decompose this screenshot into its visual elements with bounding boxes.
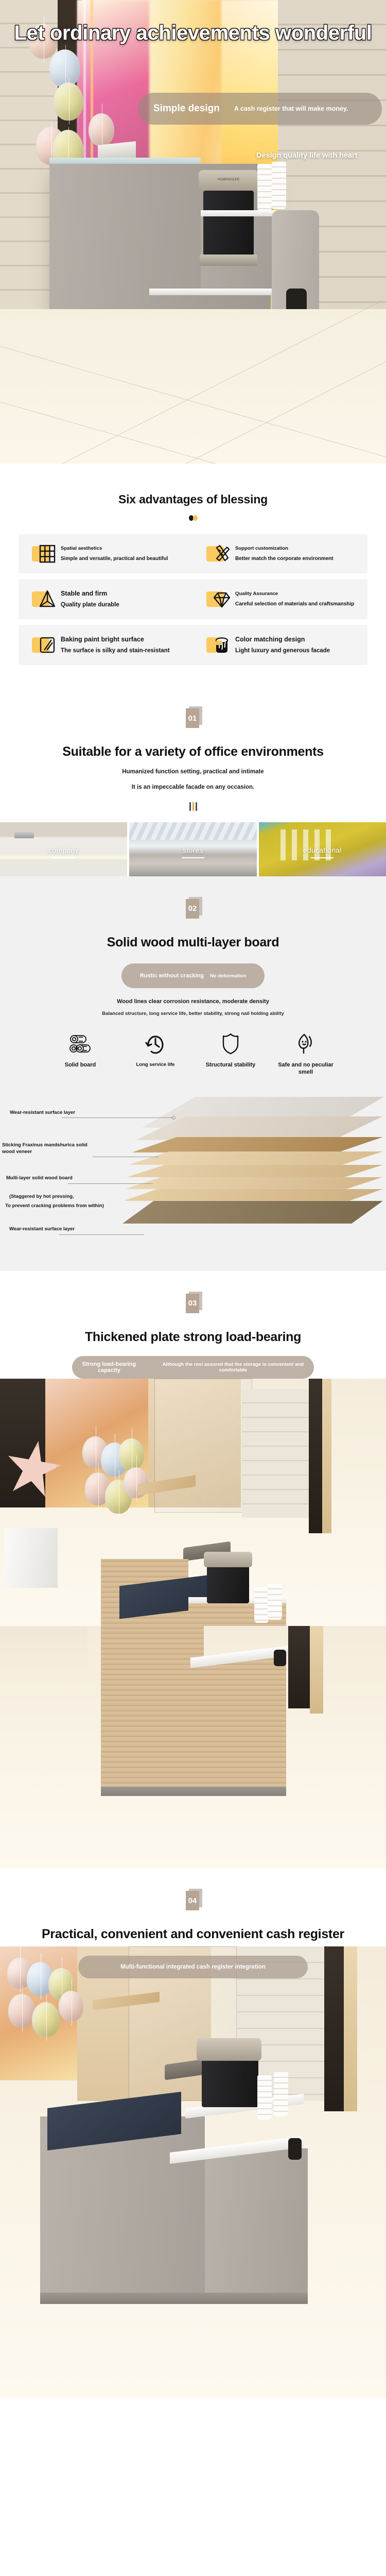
diamond-icon: [206, 590, 230, 608]
counter-handle-cutout: [288, 2138, 302, 2160]
advantages-title: Six advantages of blessing: [0, 493, 386, 506]
door-frame-dark: [324, 1946, 344, 2111]
advantage-body: Quality plate durable: [61, 601, 119, 609]
section-02-desc-2: Balanced structure, long service life, b…: [0, 1011, 386, 1016]
paint-bucket-icon: [206, 636, 230, 654]
coffee-machine-brand: HOMEMAKER: [204, 178, 253, 181]
clock-arrow-icon: [125, 1031, 186, 1057]
advantage-card-baking-paint[interactable]: Baking paint bright surface The surface …: [19, 635, 193, 655]
hero-pill-sub-label: A cash register that will make money.: [234, 105, 348, 113]
leader-line-3: [68, 1183, 153, 1184]
advantage-text: Stable and firm Quality plate durable: [61, 589, 119, 609]
advantage-text: Baking paint bright surface The surface …: [61, 635, 170, 655]
background-wall: [0, 1626, 87, 1675]
pill-label-secondary: No deformation: [210, 973, 246, 979]
coffee-machine-top: [197, 2038, 261, 2061]
section-01-sub2: It is an impeccable facade on any occasi…: [0, 784, 386, 790]
tile-wall: [242, 1389, 319, 1518]
advantage-body: Simple and versatile, practical and beau…: [61, 555, 168, 562]
coffee-machine-base: [200, 255, 257, 266]
board-layer-diagram: Wear-resistant surface layer Sticking Fr…: [0, 1088, 386, 1258]
advantage-heading: Baking paint bright surface: [61, 635, 170, 643]
door-frame-wood: [322, 1379, 331, 1533]
counter-handle-cutout: [274, 1650, 286, 1666]
product-photo-cafe-wide: [0, 1379, 386, 1626]
scene-underline: [182, 857, 204, 858]
feature-safe-no-smell: Safe and no peculiar smell: [275, 1031, 337, 1076]
lower-marble-shelf: [149, 289, 284, 295]
section-03-heading: Thickened plate strong load-bearing: [0, 1329, 386, 1345]
bar-2-icon: [192, 802, 194, 811]
section-02: 02 Solid wood multi-layer board Rustic w…: [0, 876, 386, 1271]
section-02-feature-list: Solid board Long service life: [0, 1016, 386, 1076]
wood-counter-body: [101, 1626, 204, 1791]
balloon-yellow-1: [54, 82, 83, 121]
cup-stack-2: [272, 162, 286, 209]
feature-structural-stability: Structural stability: [200, 1031, 261, 1076]
counter-plinth: [101, 1787, 286, 1796]
shield-icon: [200, 1031, 261, 1057]
advantage-text: Color matching design Light luxury and g…: [235, 635, 330, 655]
section-number-badge: 01: [186, 708, 200, 728]
cup-stack-1: [257, 2075, 272, 2120]
feature-solid-board: Solid board: [49, 1031, 111, 1076]
advantages-grid: Spatial aesthetics Simple and versatile,…: [0, 534, 386, 665]
advantages-divider-dots: [0, 515, 386, 521]
scene-underline: [311, 857, 334, 858]
feature-label: Safe and no peculiar smell: [275, 1062, 337, 1076]
balloon-f: [59, 1991, 83, 2022]
advantage-row: Spatial aesthetics Simple and versatile,…: [19, 534, 367, 573]
tile-seam-1: [0, 340, 386, 464]
paint-panel-icon: [32, 636, 56, 654]
balloon-peach-2: [89, 113, 114, 146]
section-number: 02: [186, 899, 199, 919]
hero-tagline: Design quality life with heart: [256, 151, 358, 160]
door-frame-dark: [288, 1626, 310, 1708]
hero-title: Let ordinary achievements wonderful: [0, 22, 386, 45]
section-number: 01: [186, 708, 199, 728]
grid-window-icon: [32, 545, 56, 563]
section-03: 03 Thickened plate strong load-bearing S…: [0, 1271, 386, 1379]
section-02-heading: Solid wood multi-layer board: [0, 935, 386, 951]
counter-plinth: [40, 2293, 308, 2304]
advantage-row: Stable and firm Quality plate durable Qu…: [19, 579, 367, 619]
hero-pill: Simple design A cash register that will …: [138, 93, 382, 125]
pyramid-icon: [32, 590, 56, 608]
hero-scene-photo: HOMEMAKER: [0, 0, 386, 464]
section-number-badge: 02: [186, 899, 200, 919]
plank-core-4: [124, 1189, 383, 1201]
scene-label: educational: [259, 846, 386, 854]
section-number-badge: 04: [186, 1891, 200, 1910]
leader-line-1: [62, 1117, 173, 1118]
section-number-badge: 03: [186, 1294, 200, 1313]
cup-stack-1: [254, 1587, 269, 1623]
feature-long-service-life: Long service life: [125, 1031, 186, 1076]
door-frame-wood: [344, 1946, 357, 2111]
hero-banner: HOMEMAKER Let ordinary achievements wond…: [0, 0, 386, 464]
advantage-heading: Quality Assurance: [235, 591, 354, 597]
balloon-blue: [49, 49, 80, 88]
section-01-sub1: Humanized function setting, practical an…: [0, 769, 386, 775]
bar-3-icon: [196, 802, 197, 811]
register-step-body: [205, 2148, 308, 2298]
section-number: 03: [186, 1294, 199, 1313]
cup-stack-2: [268, 1584, 282, 1620]
coffee-machine-top: [204, 1552, 252, 1567]
pill-label-secondary: Although the rest assured that the stora…: [152, 1362, 314, 1373]
advantages-section: Six advantages of blessing: [0, 464, 386, 686]
wood-counter-step: [204, 1657, 286, 1791]
bar-1-icon: [189, 802, 191, 811]
balloon-e: [32, 2002, 60, 2037]
layer-label-3: Multi-layer solid wood board: [6, 1175, 83, 1182]
layer-label-1: Wear-resistant surface layer: [10, 1110, 82, 1116]
product-detail-page: HOMEMAKER Let ordinary achievements wond…: [0, 0, 386, 2398]
tile-seam-4: [185, 300, 386, 464]
advantage-body: The surface is silky and stain-resistant: [61, 647, 170, 655]
cup-stack-1: [257, 164, 272, 211]
advantage-heading: Support customization: [235, 546, 334, 552]
scene-label: stores: [129, 846, 256, 854]
logs-icon: [49, 1031, 111, 1057]
section-01-heading: Suitable for a variety of office environ…: [0, 744, 386, 760]
scene-company[interactable]: company: [0, 822, 127, 876]
feature-label: Long service life: [125, 1062, 186, 1068]
door-frame-dark: [309, 1379, 322, 1533]
advantage-body: Better match the corporate environment: [235, 555, 334, 562]
scene-educational[interactable]: educational: [259, 822, 386, 876]
layer-label-2: Sticking Fraxinus mandshurica solid wood…: [2, 1142, 95, 1156]
glass-partition: [154, 1379, 252, 1513]
advantage-body: Careful selection of materials and craft…: [235, 601, 354, 607]
section-04: 04 Practical, convenient and convenient …: [0, 1868, 386, 1946]
coffee-machine-body: [207, 1563, 249, 1603]
advantage-heading: Stable and firm: [61, 589, 119, 598]
section-01: 01 Suitable for a variety of office envi…: [0, 686, 386, 876]
advantage-body: Light luxury and generous facade: [235, 647, 330, 655]
section-number: 04: [186, 1891, 199, 1910]
tiled-floor: [0, 309, 386, 464]
advantage-card-color-matching[interactable]: Color matching design Light luxury and g…: [193, 635, 367, 655]
advantage-card-quality-assurance[interactable]: Quality Assurance Careful selection of m…: [193, 589, 367, 609]
layer-label-5: To prevent cracking problems from within…: [5, 1203, 124, 1210]
tile-seam-2: [0, 396, 386, 464]
advantage-heading: Color matching design: [235, 635, 330, 643]
planter-box: [4, 1528, 58, 1588]
product-photo-final: Multi-functional integrated cash registe…: [0, 1946, 386, 2398]
leader-dot-1: [172, 1116, 176, 1120]
product-photo-counter-closeup: [0, 1626, 386, 1868]
advantage-heading: Spatial aesthetics: [61, 546, 168, 552]
coffee-machine-body: [202, 2058, 258, 2107]
section-04-pill: Multi-functional integrated cash registe…: [78, 1956, 308, 1978]
plank-core-3: [125, 1177, 382, 1189]
leaf-smile-icon: [275, 1031, 337, 1057]
advantage-card-spatial-aesthetics[interactable]: Spatial aesthetics Simple and versatile,…: [19, 545, 193, 563]
advantage-row: Baking paint bright surface The surface …: [19, 625, 367, 665]
section-03-pill: Strong load-bearing capacity Although th…: [72, 1356, 314, 1379]
advantage-card-support-customization[interactable]: Support customization Better match the c…: [193, 545, 367, 563]
section-02-pill: Rustic without cracking No deformation: [121, 963, 265, 988]
feature-label: Solid board: [49, 1062, 111, 1069]
scene-underline: [52, 857, 75, 858]
coffee-machine-body: [203, 191, 254, 256]
advantage-text: Quality Assurance Careful selection of m…: [235, 591, 354, 607]
scene-gallery: company stores educational: [0, 811, 386, 876]
leader-line-2: [93, 1157, 159, 1157]
plank-core-2: [127, 1165, 383, 1177]
dot-gold-icon: [193, 515, 198, 521]
scene-stores[interactable]: stores: [129, 822, 256, 876]
advantage-text: Spatial aesthetics Simple and versatile,…: [61, 546, 168, 562]
plank-core-1: [129, 1151, 383, 1165]
hero-pill-main-label: Simple design: [153, 103, 220, 114]
balloon-c: [118, 1438, 144, 1470]
balloon-d: [8, 1994, 35, 2028]
layer-label-4: (Staggered by hot pressing,: [9, 1194, 128, 1200]
pill-label-primary: Strong load-bearing capacity: [72, 1361, 146, 1374]
leader-line-4: [59, 1234, 144, 1235]
pill-label-primary: Rustic without cracking: [140, 973, 204, 979]
ruler-pencil-icon: [206, 545, 230, 563]
section-04-heading: Practical, convenient and convenient cas…: [0, 1926, 386, 1942]
plank-bottom-surface: [122, 1201, 383, 1224]
advantage-card-stable-and-firm[interactable]: Stable and firm Quality plate durable: [19, 589, 193, 609]
feature-label: Structural stability: [200, 1062, 261, 1069]
bars-divider: [0, 802, 386, 811]
cup-stack-2: [274, 2072, 288, 2116]
advantage-text: Support customization Better match the c…: [235, 546, 334, 562]
layer-label-6: Wear-resistant surface layer: [9, 1226, 81, 1233]
tile-seam-3: [62, 300, 383, 464]
section-02-desc-1: Wood lines clear corrosion resistance, m…: [0, 998, 386, 1005]
door-frame-wood: [310, 1626, 323, 1714]
coffee-machine-top: [199, 170, 258, 193]
scene-label: company: [0, 846, 127, 854]
